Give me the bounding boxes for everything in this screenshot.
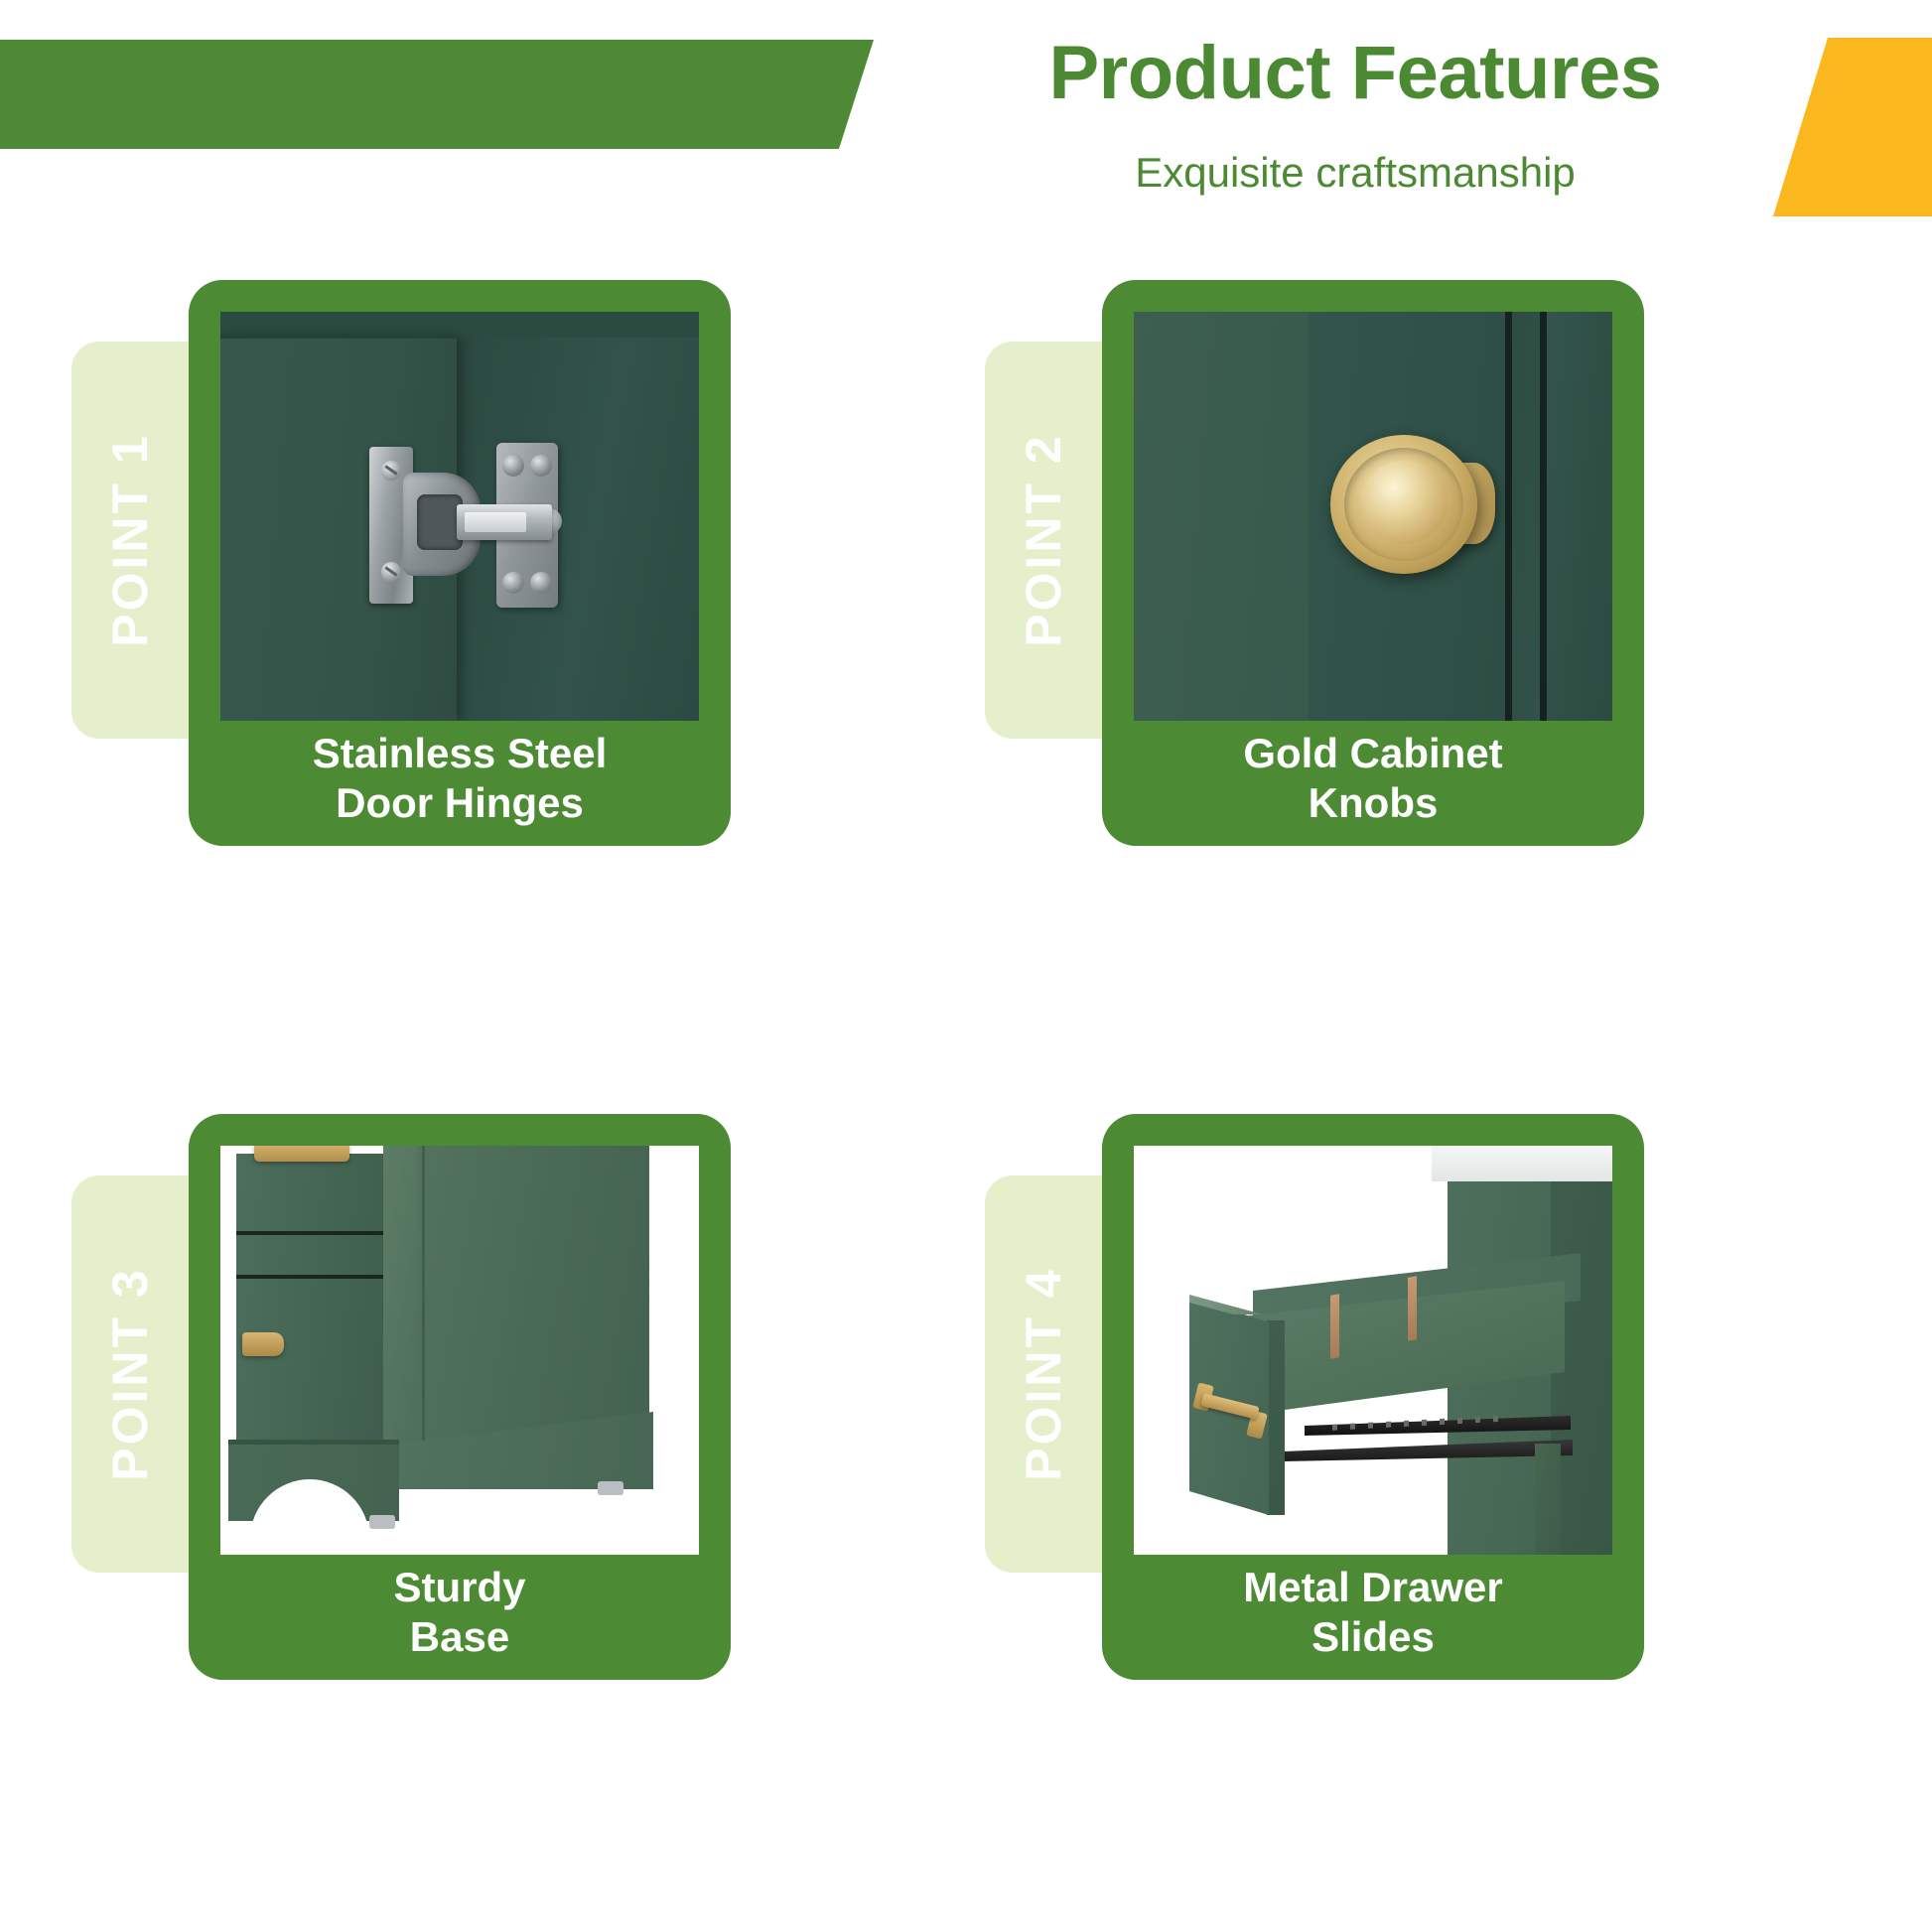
feature-caption-2: Gold Cabinet Knobs [1102, 729, 1644, 827]
point-badge-label-1: POINT 1 [101, 433, 159, 646]
gold-drawer-pull [1195, 1382, 1265, 1446]
gold-cabinet-knob-photo [1134, 312, 1612, 721]
point-badge-1: POINT 1 [71, 342, 189, 739]
concealed-hinge-assembly [369, 443, 558, 608]
feature-cards-grid: POINT 1 [0, 280, 1932, 1898]
leveling-foot-2 [598, 1481, 623, 1495]
feature-caption-4: Metal Drawer Slides [1102, 1563, 1644, 1661]
gold-drawer-handle-top [254, 1146, 349, 1162]
feature-cell-1: POINT 1 [0, 280, 913, 1074]
caption-line-2: Slides [1120, 1612, 1626, 1662]
feature-caption-1: Stainless Steel Door Hinges [189, 729, 731, 827]
door-top-edge [220, 334, 457, 339]
hinge-arm-bar [465, 512, 526, 532]
point-badge-label-4: POINT 4 [1015, 1267, 1072, 1480]
stainless-steel-door-hinge-photo [220, 312, 699, 721]
gold-knob [1330, 435, 1477, 574]
cabinet-panel-d [1547, 312, 1612, 721]
base-plinth-top-edge [228, 1440, 399, 1445]
hinge-screw-top [381, 461, 401, 481]
drawer-divider-1 [1330, 1294, 1339, 1358]
page-header: Product Features Exquisite craftsmanship [0, 0, 1932, 228]
gold-drawer-handle-mid [242, 1332, 284, 1356]
header-green-banner [0, 40, 874, 149]
caption-line-1: Gold Cabinet [1120, 729, 1626, 778]
metal-drawer-slides-photo [1134, 1146, 1612, 1555]
feature-cell-2: POINT 2 Gold Cabinet Knobs [913, 280, 1827, 1074]
panel-gap-1 [1505, 312, 1512, 721]
caption-line-1: Metal Drawer [1120, 1563, 1626, 1612]
hinge-hole-4 [530, 572, 552, 594]
page-subtitle: Exquisite craftsmanship [923, 149, 1787, 197]
cabinet-leg [1535, 1444, 1561, 1555]
panel-gap-2 [1540, 312, 1547, 721]
page-title: Product Features [923, 34, 1787, 113]
cabinet-front-panel [236, 1154, 383, 1481]
feature-card-4[interactable]: Metal Drawer Slides [1102, 1114, 1644, 1680]
caption-line-2: Door Hinges [207, 778, 713, 828]
hinge-hole-1 [502, 455, 524, 477]
feature-card-1[interactable]: Stainless Steel Door Hinges [189, 280, 731, 846]
point-badge-3: POINT 3 [71, 1175, 189, 1573]
caption-line-2: Knobs [1120, 778, 1626, 828]
cabinet-corner-seam [422, 1146, 425, 1449]
header-yellow-accent [1773, 38, 1932, 216]
hinge-screw-bottom [381, 562, 401, 582]
feature-card-3[interactable]: Sturdy Base [189, 1114, 731, 1680]
leveling-foot-1 [369, 1515, 395, 1529]
point-badge-4: POINT 4 [985, 1175, 1102, 1573]
drawer-divider-2 [1408, 1276, 1417, 1340]
sturdy-cabinet-base-photo [220, 1146, 699, 1555]
hinge-hole-3 [502, 572, 524, 594]
feature-cell-3: POINT 3 Sturdy Base [0, 1114, 913, 1908]
point-badge-label-2: POINT 2 [1015, 433, 1072, 646]
drawer-seam-2 [236, 1275, 383, 1279]
feature-cell-4: POINT 4 [913, 1114, 1827, 1908]
feature-card-2[interactable]: Gold Cabinet Knobs [1102, 280, 1644, 846]
point-badge-label-3: POINT 3 [101, 1267, 159, 1480]
cabinet-panel-a [1134, 312, 1309, 721]
pull-bar [1200, 1393, 1259, 1420]
hinge-hole-2 [530, 455, 552, 477]
feature-caption-3: Sturdy Base [189, 1563, 731, 1661]
caption-line-1: Stainless Steel [207, 729, 713, 778]
caption-line-2: Base [207, 1612, 713, 1662]
drawer-side-wall [1267, 1320, 1285, 1515]
point-badge-2: POINT 2 [985, 342, 1102, 739]
caption-line-1: Sturdy [207, 1563, 713, 1612]
drawer-seam-1 [236, 1231, 383, 1235]
cabinet-side-edge [383, 1146, 417, 1467]
cabinet-panel-c [1512, 312, 1540, 721]
white-countertop [1432, 1146, 1612, 1181]
